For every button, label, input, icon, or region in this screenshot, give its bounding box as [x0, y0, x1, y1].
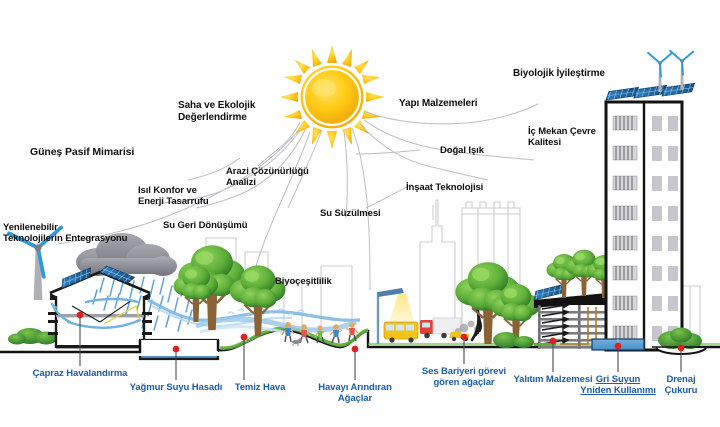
passive-house-section	[48, 265, 152, 349]
label-arazi-cozunurlugu: Arazi Çözünürlüğü Analizi	[226, 166, 309, 188]
label-yapi-malzemeleri: Yapı Malzemeleri	[399, 98, 477, 110]
label-yenilenebilir-teknolojiler: Yenilenebilir Teknolojilerin Entegrasyon…	[3, 222, 127, 244]
tower-right	[605, 51, 696, 350]
label-su-geri-donusumu: Su Geri Dönüşümü	[163, 220, 247, 231]
label-isil-konfor: Isıl Konfor ve Enerji Tasarrufu	[138, 185, 209, 207]
label-insaat-teknolojisi: İnşaat Teknolojisi	[406, 182, 483, 193]
label-drenaj-cukuru: Drenaj Çukuru	[662, 374, 701, 397]
label-biyocesitlilik: Biyoçeşitlilik	[275, 276, 332, 287]
label-temiz-hava: Temiz Hava	[235, 382, 286, 393]
sun-icon	[280, 45, 384, 149]
label-ses-bariyeri: Ses Bariyeri görevi gören ağaçlar	[422, 366, 506, 389]
label-havayi-arindiran: Havayı Arındıran Ağaçlar	[318, 382, 392, 405]
label-su-suzulmesi: Su Süzülmesi	[320, 208, 381, 219]
label-dogal-isik: Doğal Işık	[440, 145, 484, 156]
label-capraz-havalandirma: Çapraz Havalandırma	[33, 368, 128, 379]
label-saha-ve-ekolojik: Saha ve Ekolojik Değerlendirme	[178, 100, 255, 124]
label-yagmur-suyu-hasadi: Yağmur Suyu Hasadı	[130, 382, 223, 393]
label-gunes-pasif-mimarisi: Güneş Pasif Mimarisi	[30, 146, 134, 158]
label-gri-suyun-yeniden: Gri Suyun Yniden Kullanımı	[580, 374, 655, 397]
label-ic-mekan-cevre-kalitesi: İç Mekan Çevre Kalitesi	[528, 126, 596, 148]
label-biyolojik-iyilestirme: Biyolojik İyileştirme	[513, 68, 605, 80]
shrub-left-base	[8, 328, 57, 345]
infographic-canvas: Güneş Pasif Mimarisi Yenilenebilir Tekno…	[0, 0, 720, 427]
shrub-noise	[493, 332, 534, 348]
